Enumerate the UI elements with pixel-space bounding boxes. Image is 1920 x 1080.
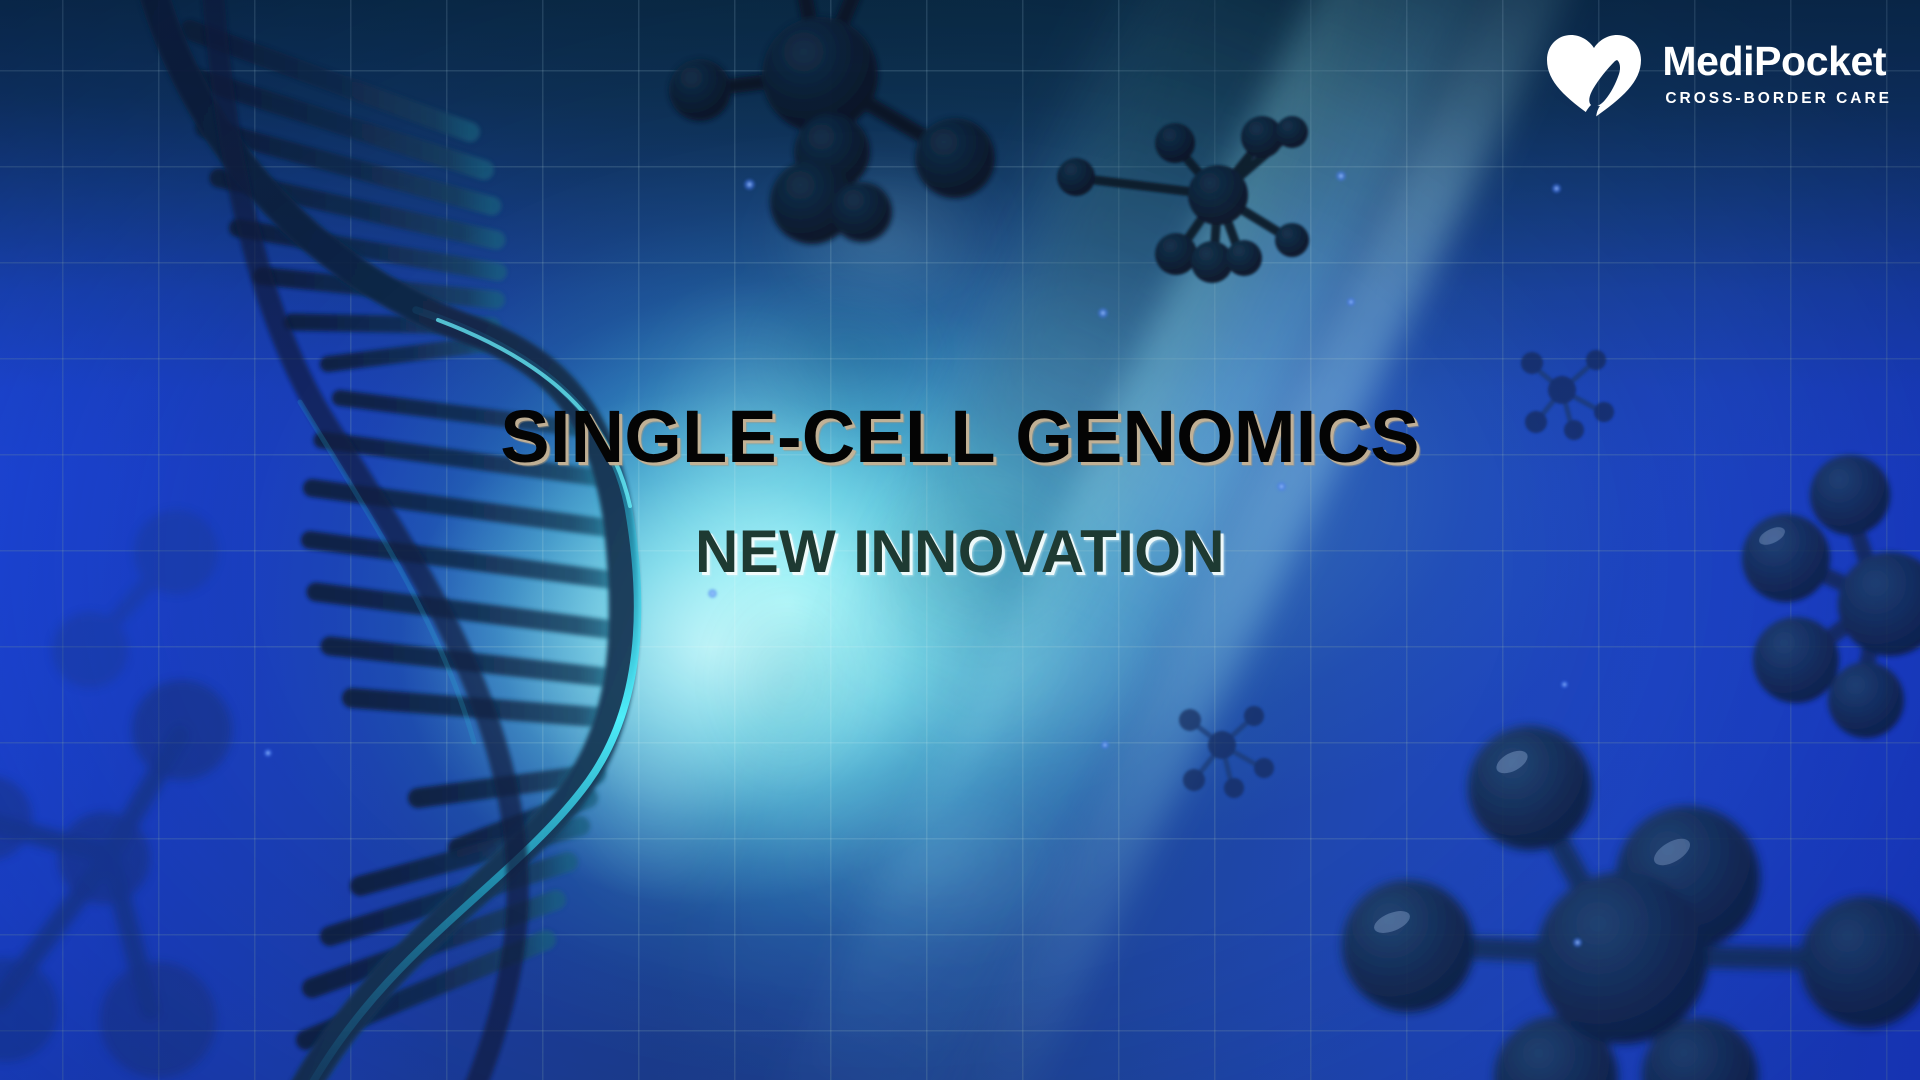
sparkle-dot (707, 588, 718, 599)
page-subtitle: NEW INNOVATION (0, 474, 1920, 582)
sparkle-dot (1346, 297, 1356, 307)
sparkle-dot (263, 748, 273, 758)
sparkle-dot (1551, 183, 1562, 194)
medipocket-logo[interactable]: MediPocket CROSS-BORDER CARE (1544, 26, 1892, 121)
logo-wordmark: MediPocket CROSS-BORDER CARE (1662, 41, 1892, 107)
sparkle-dot (1572, 937, 1583, 948)
sparkle-dot (1100, 740, 1110, 750)
heart-with-hand-icon (1544, 26, 1644, 121)
sparkle-dot (1335, 170, 1347, 182)
sparkle-dot (743, 178, 756, 191)
sparkle-dot (1097, 307, 1109, 319)
logo-brand-name: MediPocket (1662, 41, 1892, 82)
banner-root: SINGLE-CELL GENOMICS NEW INNOVATION Medi… (0, 0, 1920, 1080)
sparkle-dot (1560, 680, 1569, 689)
page-title: SINGLE-CELL GENOMICS (0, 400, 1920, 474)
headline-block: SINGLE-CELL GENOMICS NEW INNOVATION (0, 400, 1920, 582)
logo-tagline: CROSS-BORDER CARE (1662, 82, 1892, 107)
